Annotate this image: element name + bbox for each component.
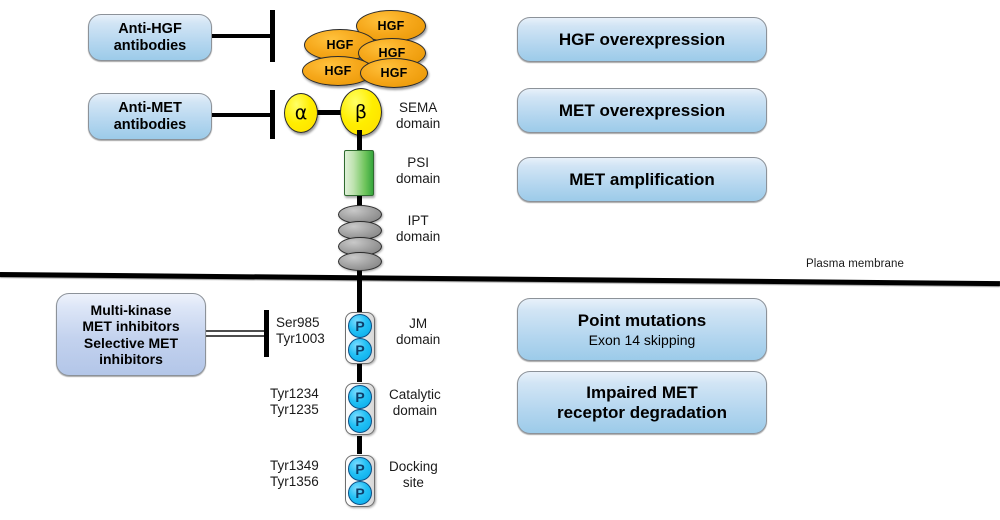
inhibitor-label-line1: Anti-MET (118, 100, 182, 117)
domain-label-sema: SEMA domain (396, 100, 440, 132)
subunit-beta: β (340, 88, 382, 136)
psi-domain-shape (344, 150, 374, 196)
domain-label-line2: domain (396, 116, 440, 132)
residue-label: Tyr1356 (270, 474, 319, 490)
residue-label: Tyr1003 (276, 331, 325, 347)
alteration-box-hgf-overexpression[interactable]: HGF overexpression (517, 17, 767, 62)
residue-label: Ser985 (276, 315, 325, 331)
domain-label-jm: JM domain (396, 316, 440, 348)
domain-label-line2: domain (396, 229, 440, 245)
inhibitor-label-line2: antibodies (114, 38, 187, 55)
alteration-title: Impaired MET receptor degradation (557, 383, 727, 422)
inhibition-tbar-anti-hgf (270, 10, 275, 62)
alteration-box-impaired-degradation[interactable]: Impaired MET receptor degradation (517, 371, 767, 434)
domain-label-catalytic: Catalytic domain (389, 387, 441, 419)
phospho-box-jm: P P (345, 312, 375, 364)
inhibition-tbar-anti-met (270, 90, 275, 139)
phospho-mark-icon: P (348, 481, 372, 505)
residue-labels-catalytic: Tyr1234 Tyr1235 (270, 386, 319, 418)
domain-label-line1: Catalytic (389, 387, 441, 403)
inhibitor-label-line1: Multi-kinase (91, 302, 172, 318)
inhibition-line-kinase-inhibitors (206, 330, 268, 337)
receptor-stem-jm-catalytic (357, 364, 362, 382)
alteration-title: Point mutations (578, 311, 706, 331)
domain-label-line2: site (389, 475, 438, 491)
alteration-title: MET overexpression (559, 101, 725, 121)
domain-label-docking: Docking site (389, 459, 438, 491)
inhibition-tbar-kinase-inhibitors (264, 310, 269, 357)
inhibitor-label-line1: Anti-HGF (118, 21, 182, 38)
domain-label-line1: JM (396, 316, 440, 332)
phospho-mark-icon: P (348, 314, 372, 338)
ligand-label: HGF (381, 66, 408, 80)
alteration-title: HGF overexpression (559, 30, 725, 50)
inhibitor-label-line4: inhibitors (99, 351, 163, 367)
domain-label-line1: SEMA (396, 100, 440, 116)
ligand-label: HGF (327, 38, 354, 52)
inhibition-line-anti-met (212, 113, 274, 117)
alteration-box-met-amplification[interactable]: MET amplification (517, 157, 767, 202)
alteration-title: MET amplification (569, 170, 714, 190)
residue-labels-docking: Tyr1349 Tyr1356 (270, 458, 319, 490)
subunit-glyph: β (355, 101, 367, 123)
phospho-mark-icon: P (348, 385, 372, 409)
plasma-membrane-label: Plasma membrane (806, 258, 904, 270)
inhibitor-box-anti-met[interactable]: Anti-MET antibodies (88, 93, 212, 140)
alteration-subtitle: Exon 14 skipping (589, 332, 696, 348)
inhibitor-box-anti-hgf[interactable]: Anti-HGF antibodies (88, 14, 212, 61)
phospho-box-catalytic: P P (345, 383, 375, 435)
inhibition-line-anti-hgf (212, 34, 274, 38)
residue-labels-jm: Ser985 Tyr1003 (276, 315, 325, 347)
domain-label-line2: domain (396, 332, 440, 348)
plasma-membrane-line (0, 272, 1000, 286)
receptor-stem-catalytic-docking (357, 436, 362, 454)
ligand-hgf-5: HGF (360, 58, 428, 88)
domain-label-line2: domain (396, 171, 440, 187)
domain-label-line1: IPT (396, 213, 440, 229)
residue-label: Tyr1234 (270, 386, 319, 402)
inhibitor-label-line2: antibodies (114, 117, 187, 134)
subunit-glyph: α (295, 102, 308, 124)
inhibitor-label-line3: Selective MET (84, 335, 178, 351)
subunit-alpha: α (284, 93, 318, 133)
residue-label: Tyr1235 (270, 402, 319, 418)
phospho-mark-icon: P (348, 457, 372, 481)
domain-label-line1: PSI (396, 155, 440, 171)
residue-label: Tyr1349 (270, 458, 319, 474)
domain-label-line1: Docking (389, 459, 438, 475)
domain-label-ipt: IPT domain (396, 213, 440, 245)
inhibitor-box-kinase-inhibitors[interactable]: Multi-kinase MET inhibitors Selective ME… (56, 293, 206, 376)
domain-label-line2: domain (389, 403, 441, 419)
alteration-box-point-mutations[interactable]: Point mutations Exon 14 skipping (517, 298, 767, 361)
receptor-stem-sema-psi (357, 130, 362, 152)
ligand-label: HGF (325, 64, 352, 78)
phospho-mark-icon: P (348, 338, 372, 362)
inhibitor-label-line2: MET inhibitors (82, 318, 179, 334)
phospho-box-docking: P P (345, 455, 375, 507)
phospho-mark-icon: P (348, 409, 372, 433)
alteration-box-met-overexpression[interactable]: MET overexpression (517, 88, 767, 133)
domain-label-psi: PSI domain (396, 155, 440, 187)
ligand-label: HGF (378, 19, 405, 33)
diagram-canvas: Anti-HGF antibodies Anti-MET antibodies … (0, 0, 1000, 520)
